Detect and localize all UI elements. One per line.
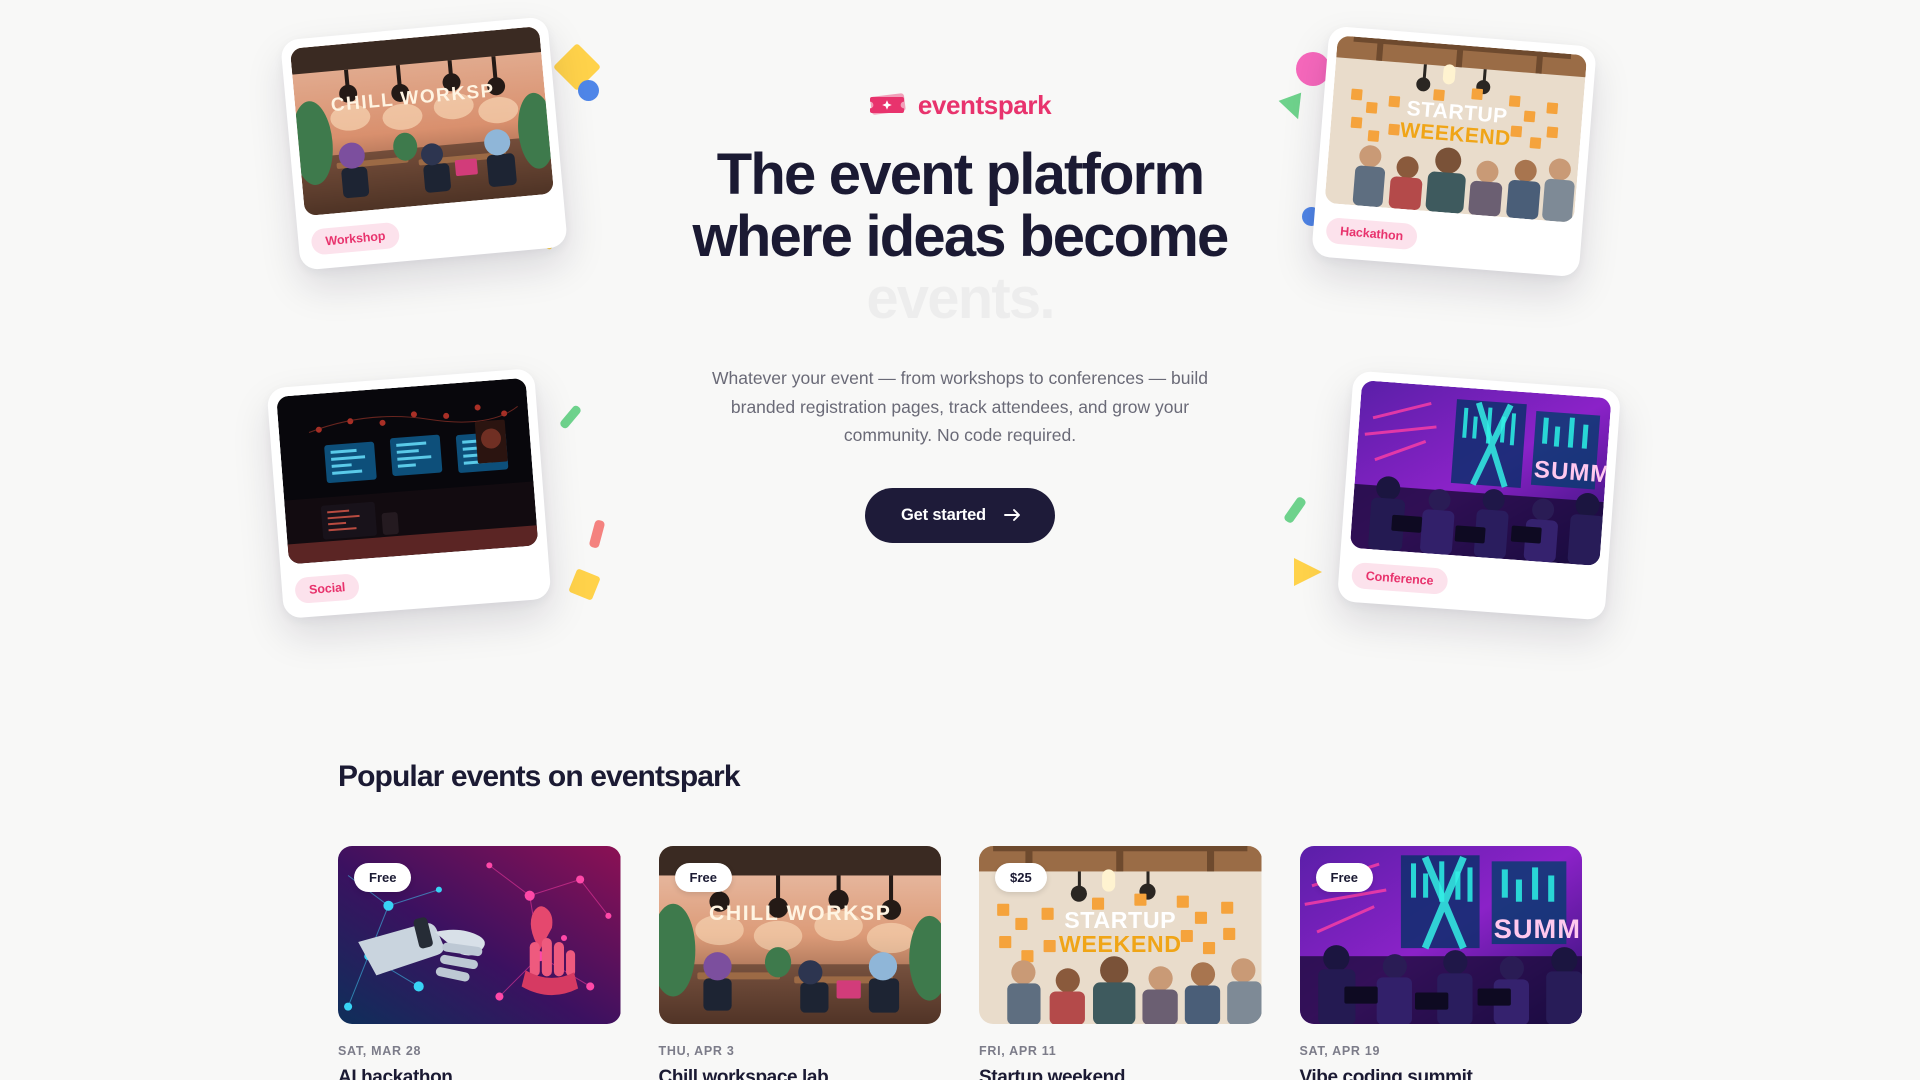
yellow-triangle-right [1294, 558, 1322, 586]
conference-thumbnail: SUMMIT [1350, 380, 1612, 566]
svg-text:SUMMIT: SUMMIT [1493, 913, 1582, 944]
workshop-thumbnail: CHILL WORKSP [290, 26, 554, 216]
hero-copy: eventspark The event platform where idea… [580, 92, 1340, 543]
event-card[interactable]: SUMMIT Free SAT, APR 19 [1300, 846, 1583, 1080]
event-title: Startup weekend [979, 1067, 1262, 1080]
get-started-label: Get started [901, 506, 986, 525]
event-thumbnail: STARTUP WEEKEND $25 [979, 846, 1262, 1024]
green-bar-mid-left [559, 404, 583, 430]
workshop-chip: Workshop [310, 222, 400, 256]
event-title: Chill workspace lab [659, 1067, 942, 1080]
popular-events-section: Popular events on eventspark [0, 760, 1920, 1080]
yellow-square-low-left [568, 568, 601, 601]
event-date: THU, APR 3 [659, 1044, 942, 1058]
brand-name: eventspark [918, 92, 1051, 118]
price-badge: $25 [995, 863, 1047, 892]
event-thumbnail: Free [338, 846, 621, 1024]
svg-text:CHILL WORKSP: CHILL WORKSP [709, 902, 891, 925]
hero-subcopy: Whatever your event — from workshops to … [695, 364, 1225, 450]
event-title: AI hackathon [338, 1067, 621, 1080]
event-title: Vibe coding summit [1300, 1067, 1583, 1080]
event-date: SAT, APR 19 [1300, 1044, 1583, 1058]
event-card[interactable]: STARTUP WEEKEND $25 FRI, APR 11 Startup … [979, 846, 1262, 1080]
floating-card-conference[interactable]: SUMMIT Conference [1337, 370, 1621, 620]
social-chip: Social [294, 573, 360, 604]
page-title: The event platform where ideas become ev… [580, 144, 1340, 330]
event-thumbnail: CHILL WORKSP [659, 846, 942, 1024]
event-thumbnail: SUMMIT Free [1300, 846, 1583, 1024]
section-title: Popular events on eventspark [338, 760, 1582, 794]
price-badge: Free [354, 863, 411, 892]
get-started-button[interactable]: Get started [865, 488, 1055, 543]
price-badge: Free [675, 863, 732, 892]
conference-chip: Conference [1351, 562, 1448, 595]
floating-card-hackathon[interactable]: STARTUP WEEKEND Hackathon [1311, 26, 1597, 278]
floating-card-social[interactable]: Social [267, 368, 552, 619]
events-grid: Free SAT, MAR 28 AI hackathon [338, 846, 1582, 1080]
event-date: SAT, MAR 28 [338, 1044, 621, 1058]
headline-line-2: where ideas become [580, 206, 1340, 268]
event-date: FRI, APR 11 [979, 1044, 1262, 1058]
ticket-sparkle-icon [869, 92, 907, 118]
svg-text:STARTUP: STARTUP [1064, 907, 1176, 933]
event-card[interactable]: CHILL WORKSP [659, 846, 942, 1080]
price-badge: Free [1316, 863, 1373, 892]
brand-logo[interactable]: eventspark [580, 92, 1340, 118]
headline-line-1: The event platform [580, 144, 1340, 206]
social-thumbnail [276, 378, 538, 565]
hackathon-thumbnail: STARTUP WEEKEND [1324, 35, 1587, 223]
svg-text:WEEKEND: WEEKEND [1059, 931, 1182, 957]
hero-section: CHILL WORKSP [0, 0, 1920, 700]
arrow-right-icon [1004, 508, 1021, 522]
event-card[interactable]: Free SAT, MAR 28 AI hackathon [338, 846, 621, 1080]
headline-line-3: events. [580, 268, 1340, 330]
floating-card-workshop[interactable]: CHILL WORKSP [280, 16, 568, 270]
